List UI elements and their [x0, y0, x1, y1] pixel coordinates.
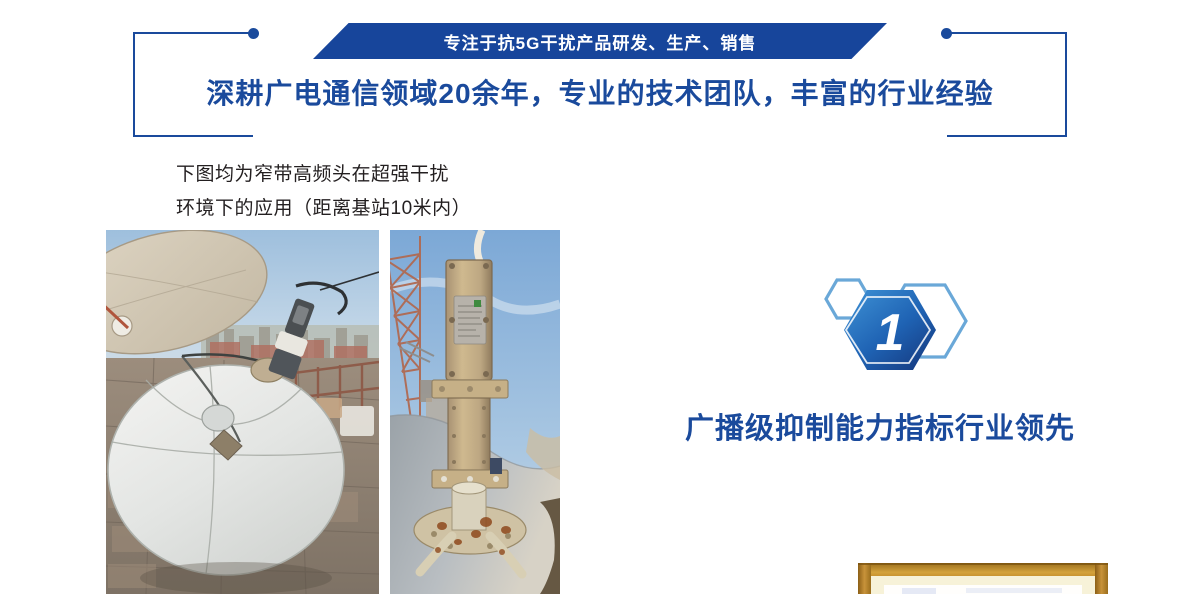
photo-caption: 下图均为窄带高频头在超强干扰 环境下的应用（距离基站10米内）: [176, 158, 471, 226]
ribbon-label: 专注于抗5G干扰产品研发、生产、销售: [444, 29, 757, 54]
lnb-waveguide-mount-photo: [390, 230, 560, 594]
satellite-dish-illustration: [106, 230, 379, 594]
lnb-device-illustration: [390, 230, 560, 594]
hexagon-badge-icon: 1: [795, 270, 985, 400]
feature-block-1: 1 广播级抑制能力指标行业领先: [640, 260, 1120, 460]
feature-title: 广播级抑制能力指标行业领先: [640, 405, 1120, 447]
bracket-dot-icon: [941, 28, 952, 39]
bracket-dot-icon: [248, 28, 259, 39]
award-certificate-frame: [858, 563, 1108, 594]
certificate-frame-illustration: [858, 563, 1108, 594]
satellite-dish-rooftop-photo: [106, 230, 379, 594]
caption-line-1: 下图均为窄带高频头在超强干扰: [176, 158, 471, 192]
badge-number: 1: [876, 304, 905, 362]
ribbon-banner: 专注于抗5G干扰产品研发、生产、销售: [313, 23, 887, 59]
hex-badge-group: 1: [795, 270, 985, 400]
caption-line-2: 环境下的应用（距离基站10米内）: [176, 192, 471, 226]
page-header: 专注于抗5G干扰产品研发、生产、销售 深耕广电通信领域20余年，专业的技术团队，…: [0, 0, 1200, 150]
page-subtitle: 深耕广电通信领域20余年，专业的技术团队，丰富的行业经验: [0, 72, 1200, 112]
